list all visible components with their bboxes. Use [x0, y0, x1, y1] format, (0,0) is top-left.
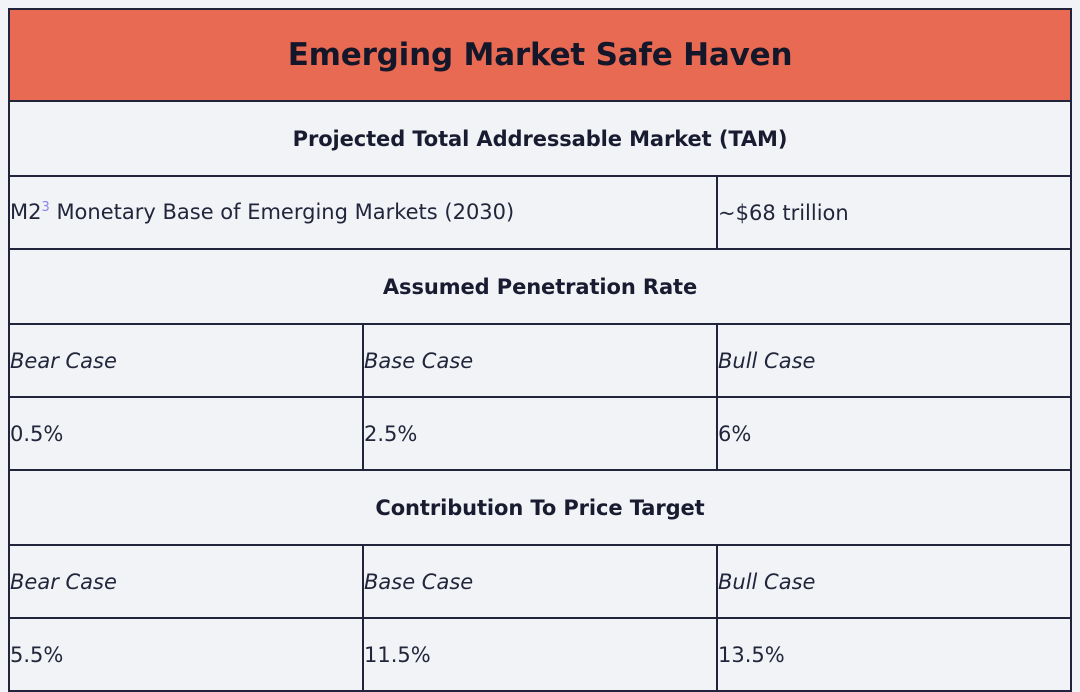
case-value-row-penetration: 0.5% 2.5% 6%: [9, 397, 1071, 470]
section-heading-tam: Projected Total Addressable Market (TAM): [293, 127, 788, 151]
tam-table: Emerging Market Safe Haven Projected Tot…: [8, 8, 1072, 692]
m2-base-label-main: M2: [10, 200, 41, 224]
table-title-row: Emerging Market Safe Haven: [9, 9, 1071, 101]
m2-base-label-cell: M23 Monetary Base of Emerging Markets (2…: [9, 176, 717, 249]
case-label-row-penetration: Bear Case Base Case Bull Case: [9, 324, 1071, 397]
penetration-bull-value-cell: 6%: [717, 397, 1071, 470]
section-heading-row-penetration: Assumed Penetration Rate: [9, 249, 1071, 324]
penetration-bull-label-cell: Bull Case: [717, 324, 1071, 397]
section-heading-row-tam: Projected Total Addressable Market (TAM): [9, 101, 1071, 176]
section-heading-cell-contribution: Contribution To Price Target: [9, 470, 1071, 545]
case-label-row-contribution: Bear Case Base Case Bull Case: [9, 545, 1071, 618]
contribution-base-value: 11.5%: [364, 643, 431, 667]
penetration-bear-value-cell: 0.5%: [9, 397, 363, 470]
penetration-base-label-cell: Base Case: [363, 324, 717, 397]
page-title: Emerging Market Safe Haven: [288, 37, 793, 73]
penetration-bear-label-cell: Bear Case: [9, 324, 363, 397]
contribution-base-label-cell: Base Case: [363, 545, 717, 618]
table-row-m2-base: M23 Monetary Base of Emerging Markets (2…: [9, 176, 1071, 249]
penetration-base-value: 2.5%: [364, 422, 417, 446]
m2-base-label: M23 Monetary Base of Emerging Markets (2…: [10, 200, 514, 224]
contribution-bear-value-cell: 5.5%: [9, 618, 363, 691]
penetration-base-label: Base Case: [364, 349, 473, 373]
contribution-bull-label: Bull Case: [718, 570, 815, 594]
m2-base-value-cell: ~$68 trillion: [717, 176, 1071, 249]
contribution-bear-value: 5.5%: [10, 643, 63, 667]
penetration-bull-label: Bull Case: [718, 349, 815, 373]
section-heading-row-contribution: Contribution To Price Target: [9, 470, 1071, 545]
penetration-bear-label: Bear Case: [10, 349, 117, 373]
section-heading-contribution: Contribution To Price Target: [375, 496, 704, 520]
section-heading-penetration: Assumed Penetration Rate: [383, 275, 697, 299]
page-container: Emerging Market Safe Haven Projected Tot…: [0, 0, 1080, 683]
contribution-bull-value-cell: 13.5%: [717, 618, 1071, 691]
contribution-bear-label-cell: Bear Case: [9, 545, 363, 618]
m2-base-value: ~$68 trillion: [718, 201, 849, 225]
footnote-ref-3[interactable]: 3: [41, 200, 49, 215]
penetration-bear-value: 0.5%: [10, 422, 63, 446]
contribution-base-label: Base Case: [364, 570, 473, 594]
contribution-base-value-cell: 11.5%: [363, 618, 717, 691]
contribution-bull-label-cell: Bull Case: [717, 545, 1071, 618]
m2-base-label-rest: Monetary Base of Emerging Markets (2030): [50, 200, 514, 224]
case-value-row-contribution: 5.5% 11.5% 13.5%: [9, 618, 1071, 691]
penetration-base-value-cell: 2.5%: [363, 397, 717, 470]
section-heading-cell-tam: Projected Total Addressable Market (TAM): [9, 101, 1071, 176]
penetration-bull-value: 6%: [718, 422, 751, 446]
contribution-bull-value: 13.5%: [718, 643, 785, 667]
table-title-cell: Emerging Market Safe Haven: [9, 9, 1071, 101]
contribution-bear-label: Bear Case: [10, 570, 117, 594]
section-heading-cell-penetration: Assumed Penetration Rate: [9, 249, 1071, 324]
